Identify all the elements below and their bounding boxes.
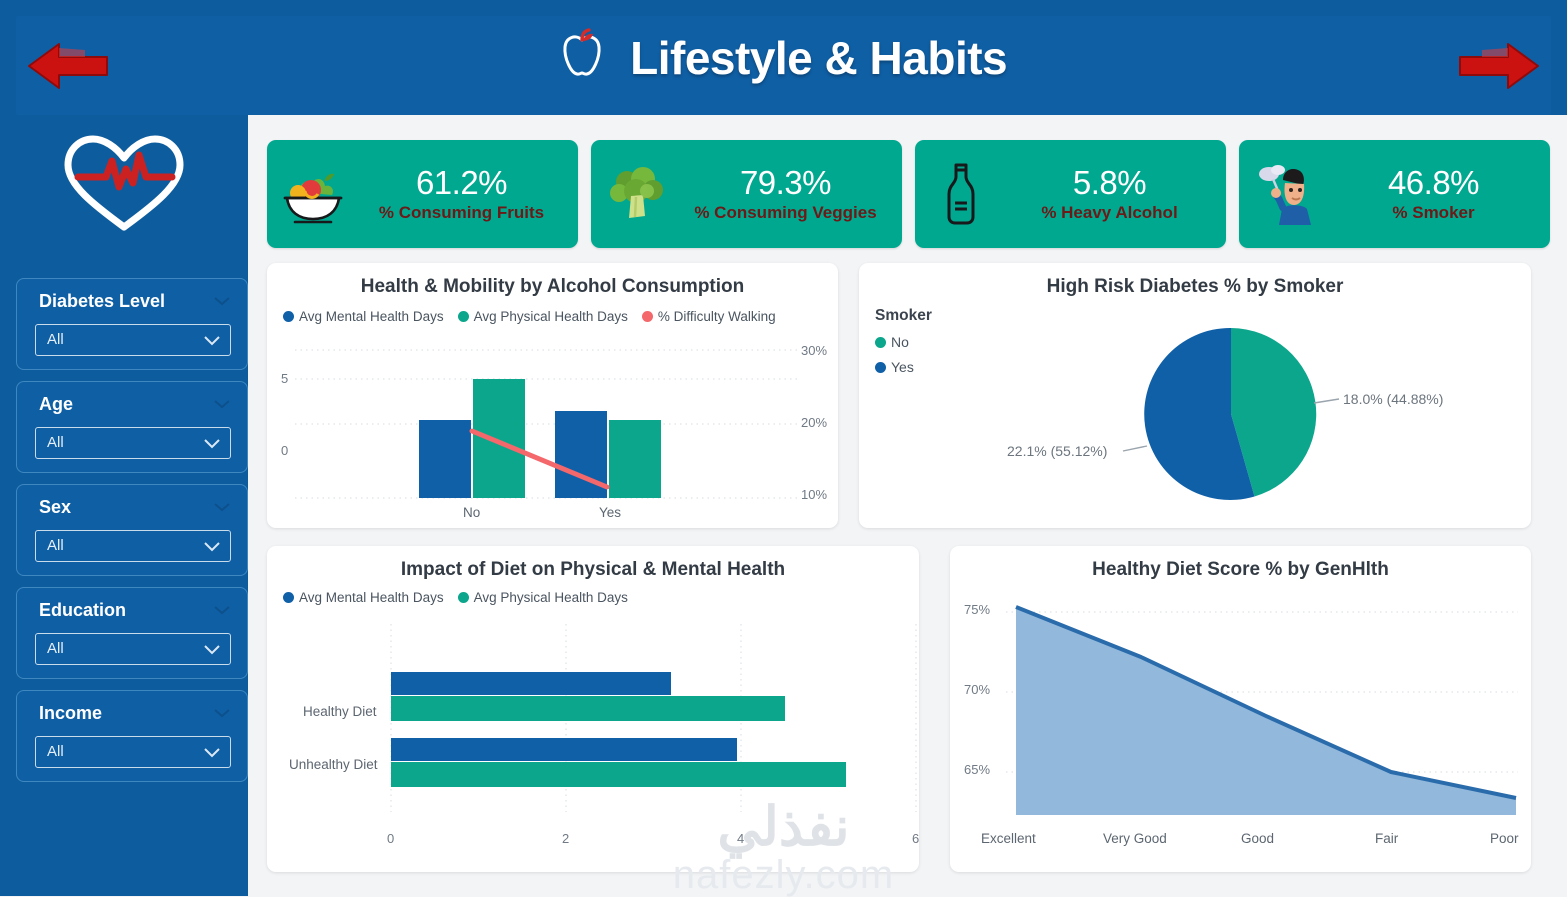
x-category-label: Very Good <box>1103 831 1167 846</box>
y-tick: 65% <box>964 762 990 777</box>
bar-healthy-mental <box>391 672 671 695</box>
slicer-sex[interactable]: Sex All <box>16 484 248 576</box>
genhlth-area-plot <box>950 590 1531 830</box>
sidebar: Diabetes Level All Age All Sex All <box>0 115 248 896</box>
slicer-title: Age <box>39 394 73 415</box>
slicer-title: Diabetes Level <box>39 291 165 312</box>
page-title-text: Lifestyle & Habits <box>630 32 1007 84</box>
slicer-diabetes-level[interactable]: Diabetes Level All <box>16 278 248 370</box>
kpi-card-fruits[interactable]: 61.2% % Consuming Fruits <box>267 140 578 248</box>
slicer-list: Diabetes Level All Age All Sex All <box>16 278 248 793</box>
x-category-label: Yes <box>599 505 621 520</box>
bar-yes-physical <box>609 420 661 498</box>
slicer-value: All <box>47 640 64 657</box>
slicer-dropdown[interactable]: All <box>35 530 231 562</box>
chevron-down-icon <box>213 708 231 718</box>
slicer-value: All <box>47 743 64 760</box>
y-tick-right: 30% <box>801 343 827 358</box>
legend-label: Avg Physical Health Days <box>474 590 628 605</box>
slicer-value: All <box>47 434 64 451</box>
report-canvas: 61.2% % Consuming Fruits 79.3% <box>248 115 1567 896</box>
bottle-icon <box>915 161 1007 227</box>
x-tick: 0 <box>387 831 394 846</box>
app-header: Lifestyle & Habits <box>0 0 1567 115</box>
kpi-label: % Smoker <box>1331 203 1536 223</box>
legend-item[interactable]: Avg Mental Health Days <box>283 590 444 605</box>
kpi-row: 61.2% % Consuming Fruits 79.3% <box>267 140 1550 248</box>
alcohol-plot <box>267 335 838 505</box>
pie-label-no: 18.0% (44.88%) <box>1343 391 1443 407</box>
x-tick: 4 <box>737 831 744 846</box>
bar-no-mental <box>419 420 471 498</box>
chevron-down-icon <box>203 335 221 346</box>
kpi-text: 46.8% % Smoker <box>1331 165 1550 223</box>
legend-item[interactable]: % Difficulty Walking <box>642 309 776 324</box>
chart-card-diet[interactable]: Impact of Diet on Physical & Mental Heal… <box>267 546 919 872</box>
legend-label: Avg Physical Health Days <box>474 309 628 324</box>
chart-title: Health & Mobility by Alcohol Consumption <box>267 276 838 298</box>
kpi-text: 61.2% % Consuming Fruits <box>359 165 578 223</box>
bar-healthy-physical <box>391 696 785 721</box>
kpi-value: 79.3% <box>683 165 888 201</box>
kpi-text: 5.8% % Heavy Alcohol <box>1007 165 1226 223</box>
x-tick: 6 <box>912 831 919 846</box>
kpi-label: % Heavy Alcohol <box>1007 203 1212 223</box>
kpi-value: 46.8% <box>1331 165 1536 201</box>
apple-icon <box>560 28 604 89</box>
kpi-card-heavy-alcohol[interactable]: 5.8% % Heavy Alcohol <box>915 140 1226 248</box>
kpi-card-smoker[interactable]: 46.8% % Smoker <box>1239 140 1550 248</box>
y-tick-right: 20% <box>801 415 827 430</box>
legend-swatch <box>283 311 294 322</box>
chevron-down-icon <box>213 605 231 615</box>
diet-plot <box>267 616 919 828</box>
legend-swatch <box>642 311 653 322</box>
y-tick: 75% <box>964 602 990 617</box>
x-category-label: Fair <box>1375 831 1398 846</box>
sidebar-logo <box>0 125 248 242</box>
kpi-label: % Consuming Veggies <box>683 203 888 223</box>
kpi-card-veggies[interactable]: 79.3% % Consuming Veggies <box>591 140 902 248</box>
legend-swatch <box>458 311 469 322</box>
y-category-label: Unhealthy Diet <box>289 757 378 772</box>
chart-legend[interactable]: Avg Mental Health Days Avg Physical Heal… <box>283 590 628 605</box>
y-tick-left: 5 <box>281 371 288 386</box>
page-title: Lifestyle & Habits <box>0 28 1567 89</box>
heartbeat-icon <box>54 125 194 237</box>
slicer-dropdown[interactable]: All <box>35 633 231 665</box>
fruit-bowl-icon <box>267 162 359 226</box>
chevron-down-icon <box>203 541 221 552</box>
bar-unhealthy-mental <box>391 738 737 761</box>
chart-title: High Risk Diabetes % by Smoker <box>859 276 1531 298</box>
legend-swatch <box>458 592 469 603</box>
chevron-down-icon <box>213 296 231 306</box>
x-tick: 2 <box>562 831 569 846</box>
pie-leader-no <box>1314 399 1339 403</box>
legend-item[interactable]: Avg Physical Health Days <box>458 590 628 605</box>
slicer-value: All <box>47 331 64 348</box>
legend-label: Avg Mental Health Days <box>299 590 444 605</box>
x-category-label: No <box>463 505 480 520</box>
arrow-right-icon <box>1456 40 1542 92</box>
chevron-down-icon <box>213 399 231 409</box>
kpi-text: 79.3% % Consuming Veggies <box>683 165 902 223</box>
legend-item[interactable]: Avg Physical Health Days <box>458 309 628 324</box>
chart-title: Impact of Diet on Physical & Mental Heal… <box>267 559 919 581</box>
kpi-value: 5.8% <box>1007 165 1212 201</box>
legend-item[interactable]: Avg Mental Health Days <box>283 309 444 324</box>
x-category-label: Poor <box>1490 831 1519 846</box>
chart-title: Healthy Diet Score % by GenHlth <box>950 559 1531 581</box>
x-category-label: Good <box>1241 831 1274 846</box>
chart-legend[interactable]: Avg Mental Health Days Avg Physical Heal… <box>283 309 776 324</box>
slicer-title: Sex <box>39 497 71 518</box>
pie-leader-yes <box>1123 446 1147 451</box>
bar-no-physical <box>473 379 525 498</box>
bar-unhealthy-physical <box>391 762 846 787</box>
slicer-title: Education <box>39 600 126 621</box>
smoker-pie-plot <box>859 299 1531 521</box>
y-tick-left: 0 <box>281 443 288 458</box>
slicer-dropdown[interactable]: All <box>35 324 231 356</box>
slicer-value: All <box>47 537 64 554</box>
slicer-age[interactable]: Age All <box>16 381 248 473</box>
chevron-down-icon <box>203 438 221 449</box>
legend-swatch <box>283 592 294 603</box>
kpi-label: % Consuming Fruits <box>359 203 564 223</box>
broccoli-icon <box>591 162 683 226</box>
x-category-label: Excellent <box>981 831 1036 846</box>
chevron-down-icon <box>213 502 231 512</box>
slicer-title: Income <box>39 703 102 724</box>
kpi-value: 61.2% <box>359 165 564 201</box>
y-category-label: Healthy Diet <box>303 704 377 719</box>
chart-card-smoker-pie[interactable]: High Risk Diabetes % by Smoker Smoker No… <box>859 263 1531 528</box>
y-tick: 70% <box>964 682 990 697</box>
slicer-education[interactable]: Education All <box>16 587 248 679</box>
next-page-arrow[interactable] <box>1456 40 1542 92</box>
legend-label: Avg Mental Health Days <box>299 309 444 324</box>
pie-label-yes: 22.1% (55.12%) <box>1007 443 1107 459</box>
slicer-dropdown[interactable]: All <box>35 427 231 459</box>
smoker-icon <box>1239 161 1331 227</box>
chevron-down-icon <box>203 644 221 655</box>
chevron-down-icon <box>203 747 221 758</box>
slicer-dropdown[interactable]: All <box>35 736 231 768</box>
legend-label: % Difficulty Walking <box>658 309 776 324</box>
chart-card-alcohol[interactable]: Health & Mobility by Alcohol Consumption… <box>267 263 838 528</box>
chart-card-genhlth-area[interactable]: Healthy Diet Score % by GenHlth 75% 70% … <box>950 546 1531 872</box>
slicer-income[interactable]: Income All <box>16 690 248 782</box>
y-tick-right: 10% <box>801 487 827 502</box>
